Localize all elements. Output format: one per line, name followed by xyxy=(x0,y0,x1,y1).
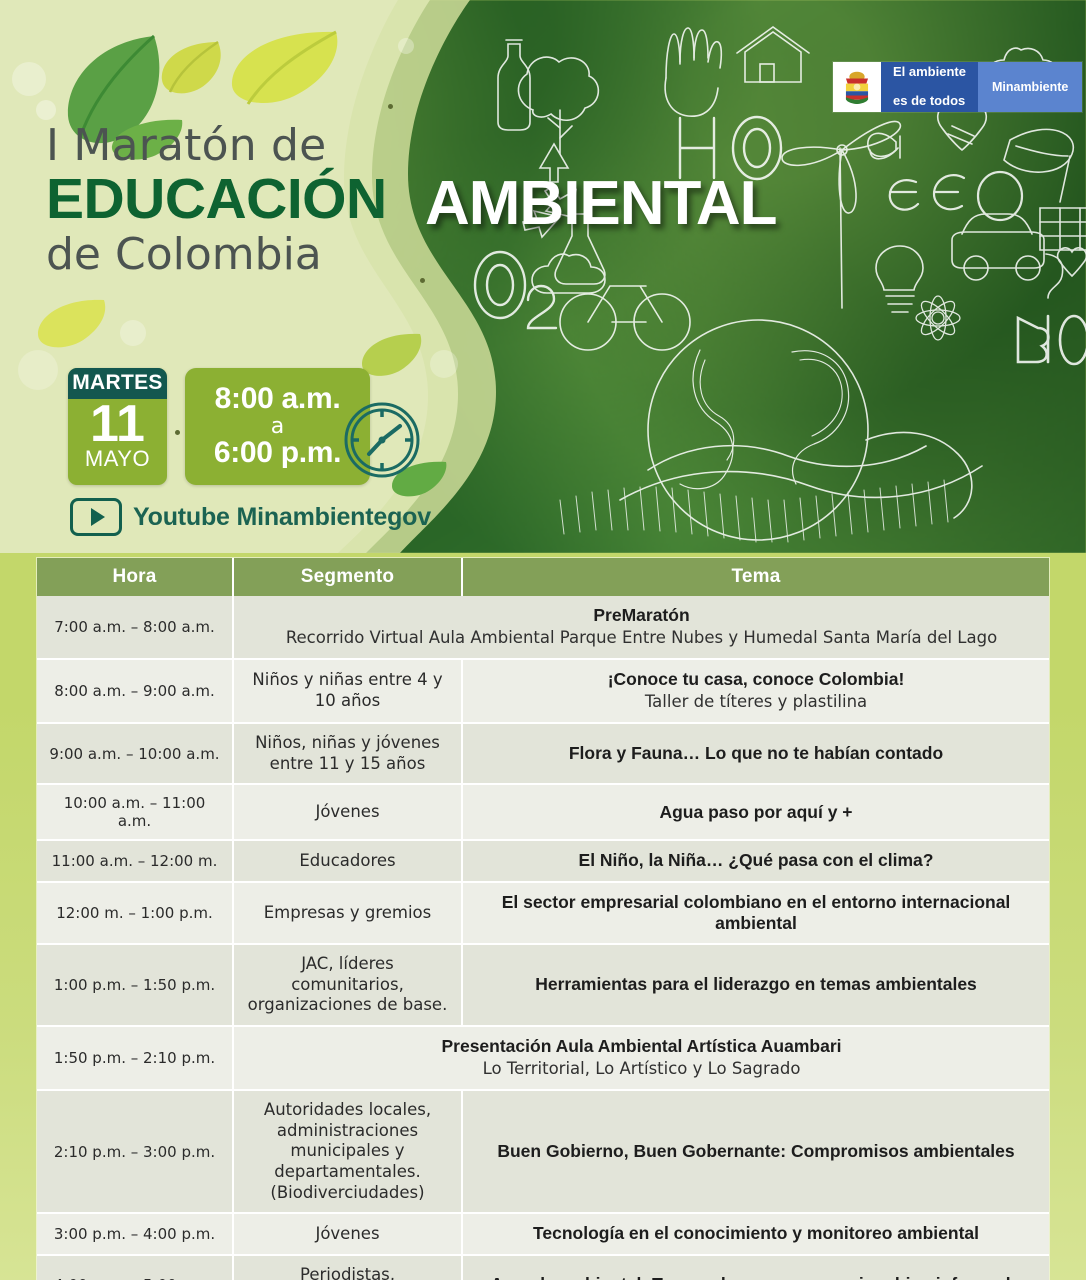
cell-hora: 7:00 a.m. – 8:00 a.m. xyxy=(37,596,233,659)
cell-hora: 9:00 a.m. – 10:00 a.m. xyxy=(37,723,233,784)
decorative-dot xyxy=(388,104,393,109)
table-row: 4:00 p.m. – 5:00 p.m.Periodistas, comuni… xyxy=(37,1255,1049,1280)
windmill-doodle xyxy=(782,122,900,308)
solar-panel-doodle xyxy=(1040,208,1086,250)
flower-doodle xyxy=(916,296,960,340)
hero-banner: I Maratón de EDUCACIÓN de Colombia AMBIE… xyxy=(0,0,1086,553)
logo-slogan-line-2: es de todos xyxy=(893,94,966,109)
column-header-tema: Tema xyxy=(462,558,1049,596)
decorative-circle xyxy=(18,350,58,390)
leaf-decoration xyxy=(34,296,108,352)
event-start-time: 8:00 a.m. xyxy=(215,384,341,415)
leaf-decoration xyxy=(226,28,342,108)
play-triangle-icon xyxy=(91,508,105,526)
event-time-connector: a xyxy=(271,415,284,438)
tema-title: Buen Gobierno, Buen Gobernante: Compromi… xyxy=(473,1141,1039,1162)
hand-doodle xyxy=(665,28,721,116)
tema-title: Tecnología en el conocimiento y monitore… xyxy=(473,1223,1039,1244)
youtube-play-icon[interactable] xyxy=(70,498,122,536)
bicycle-doodle xyxy=(560,286,690,350)
cell-hora: 3:00 p.m. – 4:00 p.m. xyxy=(37,1213,233,1254)
cell-tema: Agua paso por aquí y + xyxy=(462,784,1049,840)
decorative-circle xyxy=(36,100,56,120)
cell-segmento: Jóvenes xyxy=(233,784,462,840)
electric-car-doodle xyxy=(952,214,1063,298)
youtube-channel-row[interactable]: Youtube Minambientegov xyxy=(70,498,431,536)
cell-tema: Agenda ambiental: Temas clave para comun… xyxy=(462,1255,1049,1280)
tema-subtitle: Lo Territorial, Lo Artístico y Lo Sagrad… xyxy=(244,1059,1039,1080)
poster-root: I Maratón de EDUCACIÓN de Colombia AMBIE… xyxy=(0,0,1086,1280)
cell-segmento: Autoridades locales, administraciones mu… xyxy=(233,1090,462,1213)
tema-subtitle: Recorrido Virtual Aula Ambiental Parque … xyxy=(244,628,1039,649)
logo-entity-name: Minambiente xyxy=(978,62,1082,112)
clock-icon xyxy=(338,396,426,484)
cell-hora: 10:00 a.m. – 11:00 a.m. xyxy=(37,784,233,840)
decorative-dot xyxy=(175,430,180,435)
tema-title: Agua paso por aquí y + xyxy=(473,802,1039,823)
table-row: 10:00 a.m. – 11:00 a.m.JóvenesAgua paso … xyxy=(37,784,1049,840)
cell-tema: El sector empresarial colombiano en el e… xyxy=(462,882,1049,945)
eco-word-doodle xyxy=(890,172,1022,220)
column-header-hora: Hora xyxy=(37,558,233,596)
house-doodle xyxy=(737,27,809,82)
cell-hora: 2:10 p.m. – 3:00 p.m. xyxy=(37,1090,233,1213)
leaf-decoration xyxy=(156,38,224,98)
column-header-segmento: Segmento xyxy=(233,558,462,596)
tema-title: Herramientas para el liderazgo en temas … xyxy=(473,974,1039,995)
cell-segmento: Educadores xyxy=(233,840,462,881)
bio-word-doodle xyxy=(1018,316,1086,364)
event-end-time: 6:00 p.m. xyxy=(214,438,341,469)
title-ambiental: AMBIENTAL xyxy=(425,168,776,239)
decorative-circle xyxy=(12,62,46,96)
table-row: 1:50 p.m. – 2:10 p.m.Presentación Aula A… xyxy=(37,1026,1049,1090)
decorative-dot xyxy=(420,278,425,283)
logo-slogan-line-1: El ambiente xyxy=(893,65,966,80)
table-row: 3:00 p.m. – 4:00 p.m.JóvenesTecnología e… xyxy=(37,1213,1049,1254)
table-row: 9:00 a.m. – 10:00 a.m.Niños, niñas y jóv… xyxy=(37,723,1049,784)
tema-subtitle: Taller de títeres y plastilina xyxy=(473,692,1039,713)
cell-tema: Presentación Aula Ambiental Artística Au… xyxy=(233,1026,1049,1090)
schedule-table: Hora Segmento Tema 7:00 a.m. – 8:00 a.m.… xyxy=(37,558,1049,1280)
ministry-logo: El ambiente es de todos Minambiente xyxy=(833,62,1082,112)
event-date-card: MARTES 11 MAYO xyxy=(68,368,167,485)
cell-segmento: Niños, niñas y jóvenes entre 11 y 15 año… xyxy=(233,723,462,784)
logo-slogan: El ambiente es de todos xyxy=(881,62,978,112)
table-row: 8:00 a.m. – 9:00 a.m.Niños y niñas entre… xyxy=(37,659,1049,723)
tema-title: El sector empresarial colombiano en el e… xyxy=(473,892,1039,935)
table-row: 2:10 p.m. – 3:00 p.m.Autoridades locales… xyxy=(37,1090,1049,1213)
cell-tema: Flora y Fauna… Lo que no te habían conta… xyxy=(462,723,1049,784)
tema-title: ¡Conoce tu casa, conoce Colombia! xyxy=(473,669,1039,690)
table-header-row: Hora Segmento Tema xyxy=(37,558,1049,596)
cell-hora: 1:50 p.m. – 2:10 p.m. xyxy=(37,1026,233,1090)
table-row: 11:00 a.m. – 12:00 m.EducadoresEl Niño, … xyxy=(37,840,1049,881)
cell-segmento: Jóvenes xyxy=(233,1213,462,1254)
event-month: MAYO xyxy=(68,448,167,470)
colombia-coat-of-arms-icon xyxy=(833,62,881,112)
cell-tema: Herramientas para el liderazgo en temas … xyxy=(462,944,1049,1026)
tema-title: Flora y Fauna… Lo que no te habían conta… xyxy=(473,743,1039,764)
leaf-doodle xyxy=(1004,129,1073,202)
tema-title: Agenda ambiental: Temas clave para comun… xyxy=(473,1274,1039,1280)
table-row: 7:00 a.m. – 8:00 a.m.PreMaratónRecorrido… xyxy=(37,596,1049,659)
globe-in-hand-doodle xyxy=(560,320,982,542)
decorative-circle xyxy=(398,38,414,54)
title-line-1: I Maratón de xyxy=(46,124,686,168)
tema-title: Presentación Aula Ambiental Artística Au… xyxy=(244,1036,1039,1057)
cell-segmento: Periodistas, comunicadores, medios. xyxy=(233,1255,462,1280)
cell-tema: ¡Conoce tu casa, conoce Colombia!Taller … xyxy=(462,659,1049,723)
table-row: 12:00 m. – 1:00 p.m.Empresas y gremiosEl… xyxy=(37,882,1049,945)
cell-tema: PreMaratónRecorrido Virtual Aula Ambient… xyxy=(233,596,1049,659)
youtube-channel-label: Youtube Minambientegov xyxy=(133,503,431,532)
cell-hora: 11:00 a.m. – 12:00 m. xyxy=(37,840,233,881)
cell-tema: Buen Gobierno, Buen Gobernante: Compromi… xyxy=(462,1090,1049,1213)
cell-hora: 4:00 p.m. – 5:00 p.m. xyxy=(37,1255,233,1280)
decorative-circle xyxy=(120,320,146,346)
bulb-doodle xyxy=(876,246,923,312)
butterfly-doodle xyxy=(868,133,900,158)
decorative-circle xyxy=(430,350,458,378)
cell-hora: 12:00 m. – 1:00 p.m. xyxy=(37,882,233,945)
cell-hora: 8:00 a.m. – 9:00 a.m. xyxy=(37,659,233,723)
cell-segmento: Niños y niñas entre 4 y 10 años xyxy=(233,659,462,723)
event-day: 11 xyxy=(68,400,167,450)
cell-hora: 1:00 p.m. – 1:50 p.m. xyxy=(37,944,233,1026)
tema-title: El Niño, la Niña… ¿Qué pasa con el clima… xyxy=(473,850,1039,871)
cell-tema: El Niño, la Niña… ¿Qué pasa con el clima… xyxy=(462,840,1049,881)
cell-segmento: Empresas y gremios xyxy=(233,882,462,945)
cell-tema: Tecnología en el conocimiento y monitore… xyxy=(462,1213,1049,1254)
tema-title: PreMaratón xyxy=(244,605,1039,626)
cell-segmento: JAC, líderes comunitarios, organizacione… xyxy=(233,944,462,1026)
table-row: 1:00 p.m. – 1:50 p.m.JAC, líderes comuni… xyxy=(37,944,1049,1026)
